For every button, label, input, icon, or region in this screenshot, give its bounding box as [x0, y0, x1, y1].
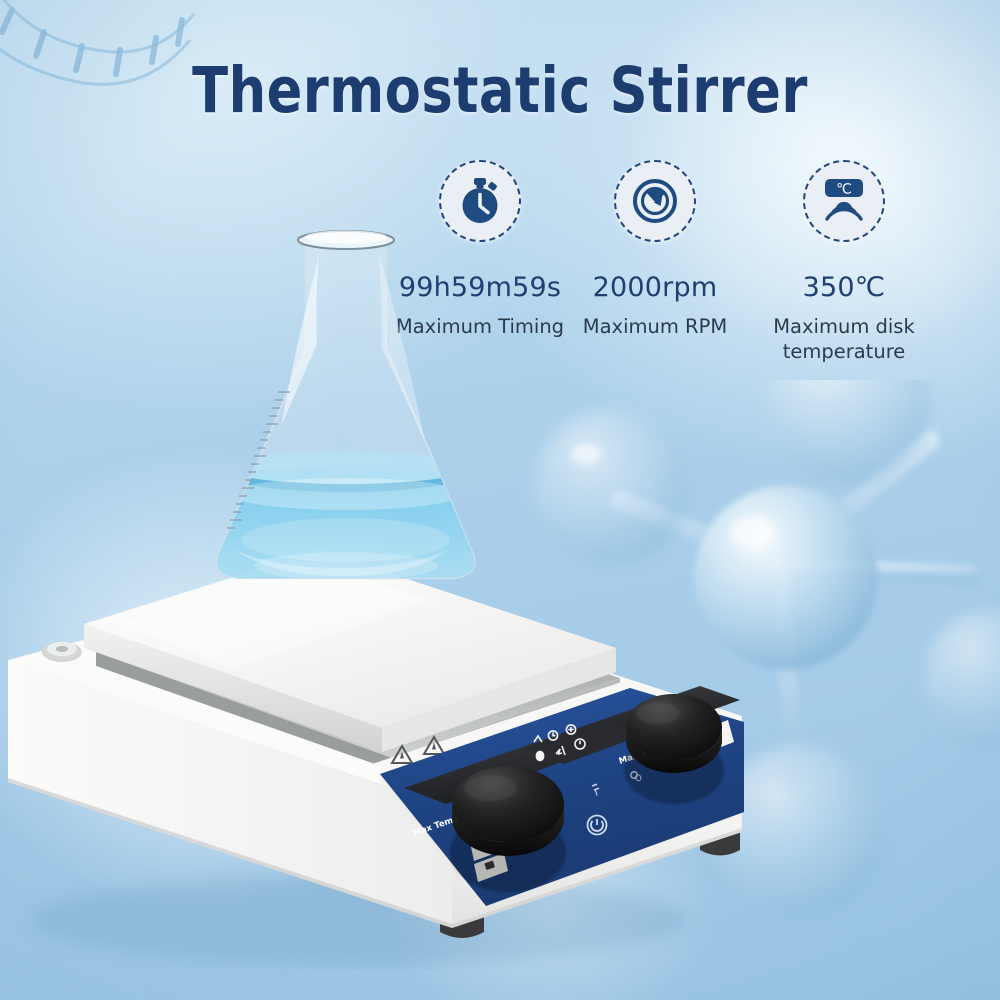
svg-text:℃: ℃	[836, 182, 852, 198]
page-title: Thermostatic Stirrer	[35, 54, 965, 127]
feature-value: 350℃	[739, 272, 949, 303]
feature-badge: ℃	[803, 160, 885, 242]
feature-label: Maximum disk temperature	[739, 314, 949, 364]
feature-item-rpm: 2000rpm Maximum RPM	[564, 160, 746, 339]
flask-rim	[298, 231, 394, 250]
feature-badge	[614, 160, 696, 242]
temperature-knob[interactable]	[450, 766, 566, 892]
flask-illustration	[186, 222, 506, 642]
speedometer-icon	[630, 176, 680, 226]
feature-value: 2000rpm	[564, 272, 746, 303]
stopwatch-icon	[455, 176, 505, 226]
speed-knob[interactable]	[624, 694, 724, 804]
feature-label: Maximum RPM	[564, 314, 746, 339]
erlenmeyer-flask	[186, 222, 506, 642]
stir-bar-icon	[536, 751, 545, 762]
flask-liquid	[186, 452, 506, 622]
temperature-waves-icon: ℃	[818, 177, 870, 225]
product-banner: Thermostatic Stirrer 99h59m59s Maximum T…	[0, 0, 1000, 1000]
feature-item-temperature: ℃ 350℃ Maximum disk temperature	[739, 160, 949, 364]
